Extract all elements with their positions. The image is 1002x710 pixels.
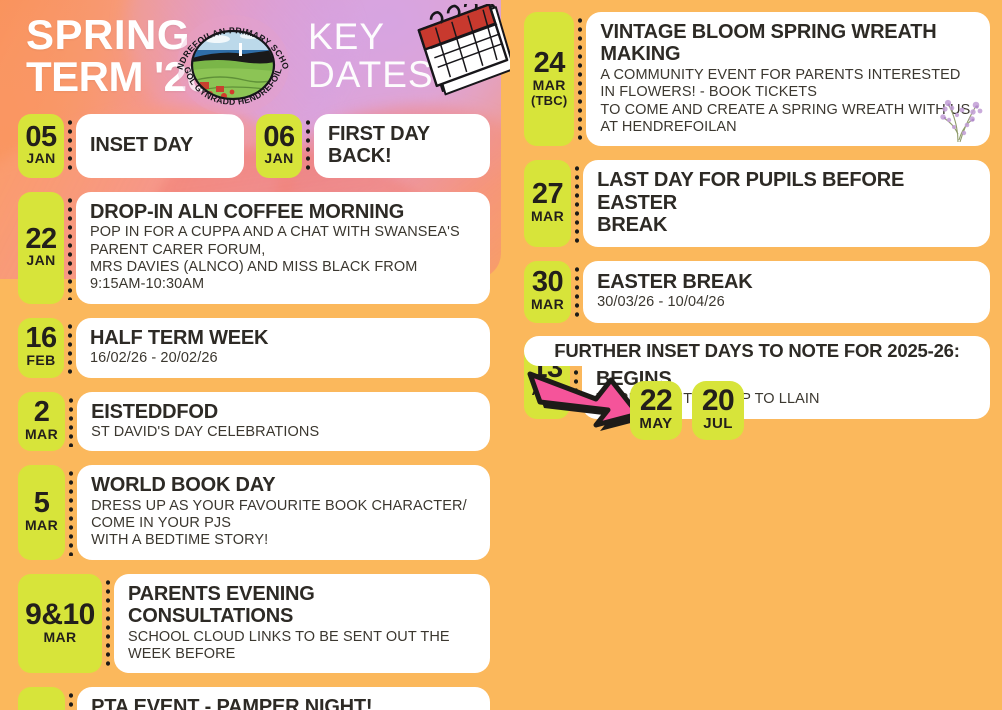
inset-chip-day: 20	[702, 387, 734, 415]
event-card: EASTER BREAK 30/03/26 - 10/04/26	[583, 261, 990, 323]
event-row[interactable]: 30 MAR EASTER BREAK 30/03/26 - 10/04/26	[524, 261, 990, 323]
event-title: LAST DAY FOR PUPILS BEFORE EASTER BREAK	[597, 169, 976, 236]
event-subtitle: A COMMUNITY EVENT FOR PARENTS INTERESTED…	[600, 67, 976, 137]
event-subtitle: SCHOOL CLOUD LINKS TO BE SENT OUT THE WE…	[128, 629, 476, 664]
date-chip: 30 MAR	[524, 261, 571, 323]
event-row[interactable]: 5 MAR WORLD BOOK DAY DRESS UP AS YOUR FA…	[18, 465, 490, 560]
event-card: INSET DAY	[76, 114, 244, 178]
date-chip-month: MAR	[533, 78, 566, 94]
inset-date-chip[interactable]: 22 MAY	[630, 381, 682, 440]
further-inset-label: FURTHER INSET DAYS TO NOTE FOR 2025-26:	[554, 340, 959, 362]
date-chip-day: 27	[532, 181, 563, 208]
event-subtitle: DRESS UP AS YOUR FAVOURITE BOOK CHARACTE…	[91, 498, 476, 550]
event-card: PARENTS EVENING CONSULTATIONS SCHOOL CLO…	[114, 574, 490, 674]
event-card: EISTEDDFOD ST DAVID'S DAY CELEBRATIONS	[77, 392, 490, 452]
date-chip-month: JAN	[264, 151, 293, 167]
dotted-divider	[304, 118, 312, 174]
event-title: EISTEDDFOD	[91, 401, 476, 423]
date-chip-day: 22	[25, 226, 56, 253]
date-chip-month: MAR	[531, 297, 564, 313]
event-row[interactable]: 9&10 MAR PARENTS EVENING CONSULTATIONS S…	[18, 574, 490, 674]
event-row[interactable]: 27 MAR LAST DAY FOR PUPILS BEFORE EASTER…	[524, 160, 990, 246]
dotted-divider	[66, 118, 74, 174]
event-card: WORLD BOOK DAY DRESS UP AS YOUR FAVOURIT…	[77, 465, 490, 560]
date-chip-note: (TBC)	[531, 94, 567, 108]
school-crest: HENDREFOILAN PRIMARY SCHOOL YSGOL GYNRAD…	[172, 10, 294, 120]
dotted-divider	[573, 265, 581, 319]
dotted-divider	[67, 396, 75, 448]
further-inset-banner: FURTHER INSET DAYS TO NOTE FOR 2025-26:	[524, 336, 990, 366]
event-card: HALF TERM WEEK 16/02/26 - 20/02/26	[76, 318, 490, 378]
inset-chip-month: MAY	[639, 416, 672, 433]
event-title: HALF TERM WEEK	[90, 327, 476, 349]
date-chip-day: 06	[263, 124, 294, 151]
event-row[interactable]: 16 FEB HALF TERM WEEK 16/02/26 - 20/02/2…	[18, 318, 490, 378]
date-chip-day: 9&10	[25, 601, 95, 629]
event-subtitle: POP IN FOR A CUPPA AND A CHAT WITH SWANS…	[90, 224, 476, 294]
date-chip: 5 MAR	[18, 465, 65, 560]
date-chip: 13 MAR	[18, 687, 65, 710]
date-chip-day: 2	[34, 399, 50, 426]
date-chip-month: MAR	[25, 518, 58, 534]
dotted-divider	[573, 164, 581, 242]
date-chip-month: MAR	[531, 209, 564, 225]
event-card: LAST DAY FOR PUPILS BEFORE EASTER BREAK	[583, 160, 990, 246]
event-subtitle: ST DAVID'S DAY CELEBRATIONS	[91, 424, 476, 441]
event-title: EASTER BREAK	[597, 271, 976, 293]
event-row[interactable]: 2 MAR EISTEDDFOD ST DAVID'S DAY CELEBRAT…	[18, 392, 490, 452]
event-row[interactable]: 05 JAN INSET DAY	[18, 114, 244, 178]
date-chip: 24 MAR (TBC)	[524, 12, 574, 146]
event-row[interactable]: 24 MAR (TBC) VINTAGE BLOOM SPRING WREATH…	[524, 12, 990, 146]
event-title: DROP-IN ALN COFFEE MORNING	[90, 201, 476, 223]
dotted-divider	[67, 469, 75, 556]
dotted-divider	[67, 691, 75, 710]
event-title: PARENTS EVENING CONSULTATIONS	[128, 583, 476, 628]
date-chip: 16 FEB	[18, 318, 64, 378]
inset-chip-month: JUL	[703, 416, 733, 433]
header: SPRING TERM '26	[0, 0, 501, 120]
event-row[interactable]: 22 JAN DROP-IN ALN COFFEE MORNING POP IN…	[18, 192, 490, 304]
date-chip-month: MAR	[25, 427, 58, 443]
date-chip-month: FEB	[26, 353, 55, 369]
date-chip: 9&10 MAR	[18, 574, 102, 674]
event-card: FIRST DAY BACK!	[314, 114, 490, 178]
event-card: VINTAGE BLOOM SPRING WREATH MAKING A COM…	[586, 12, 990, 146]
inset-date-chip[interactable]: 20 JUL	[692, 381, 744, 440]
date-chip-month: MAR	[43, 630, 76, 646]
event-card: DROP-IN ALN COFFEE MORNING POP IN FOR A …	[76, 192, 490, 304]
date-chip: 27 MAR	[524, 160, 571, 246]
event-title: VINTAGE BLOOM SPRING WREATH MAKING	[600, 21, 976, 66]
inset-chip-day: 22	[640, 387, 672, 415]
event-title: WORLD BOOK DAY	[91, 474, 476, 496]
left-events-column: 05 JAN INSET DAY 06 JAN FIRST DAY BACK! …	[18, 114, 490, 710]
date-chip-day: 05	[25, 124, 56, 151]
calendar-icon	[398, 4, 510, 104]
dotted-divider	[66, 196, 74, 300]
event-row[interactable]: 13 MAR PTA EVENT - PAMPER NIGHT! MOTHERS…	[18, 687, 490, 710]
date-chip-month: JAN	[26, 151, 55, 167]
date-chip-day: 16	[25, 325, 56, 352]
date-chip-day: 5	[34, 490, 50, 517]
date-chip-month: JAN	[26, 253, 55, 269]
event-title: INSET DAY	[90, 134, 230, 156]
date-chip: 2 MAR	[18, 392, 65, 452]
date-chip: 22 JAN	[18, 192, 64, 304]
event-title: PTA EVENT - PAMPER NIGHT!	[91, 696, 476, 710]
date-chip: 06 JAN	[256, 114, 302, 178]
event-row[interactable]: 06 JAN FIRST DAY BACK!	[256, 114, 490, 178]
event-subtitle: 16/02/26 - 20/02/26	[90, 350, 476, 367]
dotted-divider	[104, 578, 112, 670]
date-chip-day: 24	[534, 50, 565, 77]
dotted-divider	[66, 322, 74, 374]
event-subtitle: 30/03/26 - 10/04/26	[597, 294, 976, 311]
pink-arrow-icon	[518, 366, 646, 438]
date-chip-day: 30	[532, 269, 563, 296]
inset-firstday-row: 05 JAN INSET DAY 06 JAN FIRST DAY BACK!	[18, 114, 490, 178]
event-title: FIRST DAY BACK!	[328, 123, 476, 168]
dotted-divider	[576, 16, 584, 142]
event-card: PTA EVENT - PAMPER NIGHT! MOTHERS DAY IS…	[77, 687, 490, 710]
further-inset-chips: 22 MAY 20 JUL	[630, 381, 744, 440]
date-chip: 05 JAN	[18, 114, 64, 178]
